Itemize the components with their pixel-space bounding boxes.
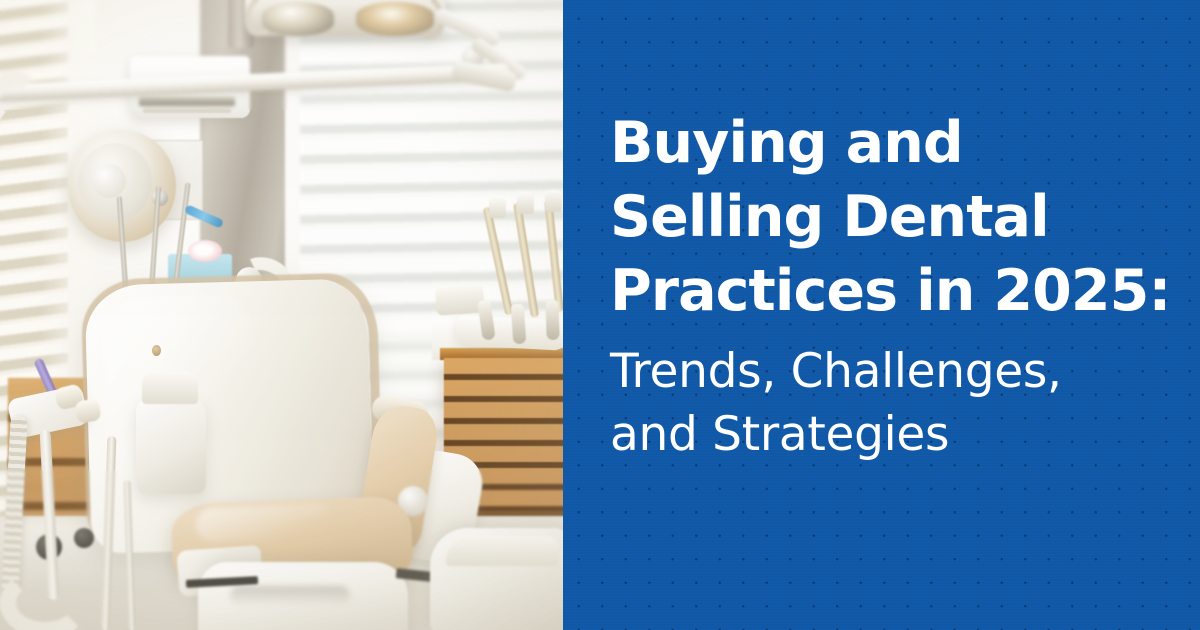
handpiece-holder	[517, 192, 534, 214]
handpiece-instrument	[511, 304, 527, 345]
instrument-tray-arm	[435, 284, 485, 315]
dental-chair-screw	[152, 345, 161, 356]
suction-hose-bend	[0, 568, 90, 630]
photo-scene	[0, 0, 563, 630]
air-conditioner-vent-lower	[143, 108, 231, 113]
title-text-block: Buying and Selling Dental Practices in 2…	[610, 106, 1180, 466]
instrument-stand-body	[136, 398, 206, 494]
castor-wheel	[74, 528, 94, 548]
headline: Buying and Selling Dental Practices in 2…	[610, 106, 1180, 328]
dental-chair-seat-highlight	[195, 504, 336, 543]
side-delivery-unit-lid	[446, 536, 558, 566]
tissue-puff	[188, 240, 222, 262]
dental-clinic-photo	[0, 0, 563, 630]
dental-chair-base-shadow	[230, 586, 350, 606]
handpiece-holder	[489, 196, 506, 218]
handpiece-instrument	[545, 300, 559, 340]
air-conditioner-vent	[139, 97, 235, 106]
title-panel: Buying and Selling Dental Practices in 2…	[563, 0, 1200, 630]
handpiece-holder	[545, 190, 562, 212]
instrument-stand-top	[142, 372, 198, 404]
chair-headrest-hub	[92, 164, 126, 198]
article-hero-banner: Buying and Selling Dental Practices in 2…	[0, 0, 1200, 630]
subheadline: Trends, Challenges, and Strategies	[610, 340, 1180, 466]
